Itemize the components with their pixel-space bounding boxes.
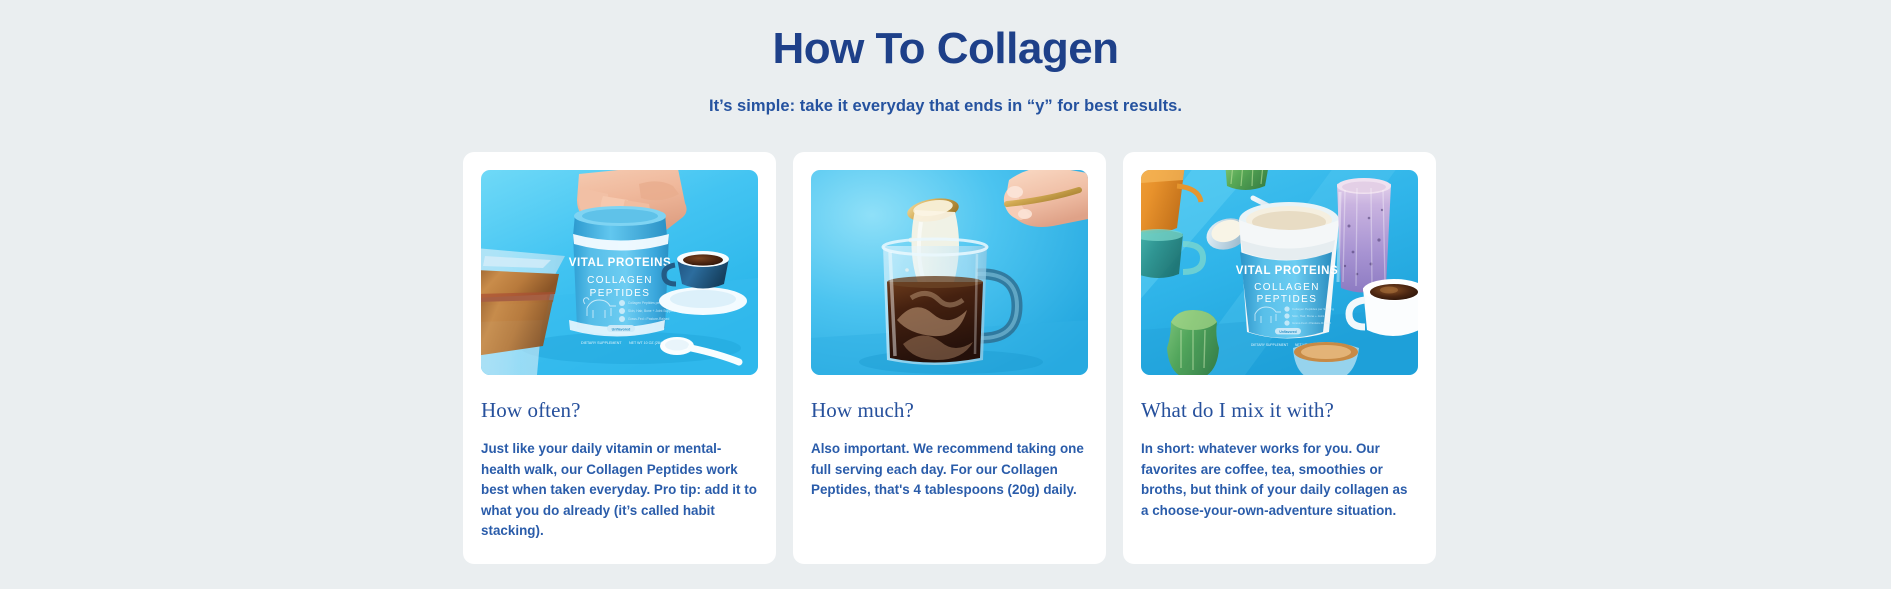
svg-text:Unflavored: Unflavored	[612, 327, 631, 331]
page-subtitle: It’s simple: take it everyday that ends …	[0, 97, 1891, 116]
how-to-card-how-much[interactable]: How much? Also important. We recommend t…	[793, 152, 1106, 564]
photo-hand-collagen-coffee: VITAL PROTEINS COLLAGEN PEPTIDES Collage…	[481, 170, 758, 375]
photo-spoon-pour-coffee-mug	[811, 170, 1088, 375]
svg-text:Unflavored: Unflavored	[1279, 330, 1296, 334]
svg-text:PEPTIDES: PEPTIDES	[1257, 294, 1318, 305]
svg-text:COLLAGEN: COLLAGEN	[1254, 282, 1320, 293]
svg-text:Collagen Peptides per Serving: Collagen Peptides per Serving	[1292, 307, 1334, 311]
how-to-card-what-do-i-mix-it-with[interactable]: VITAL PROTEINS COLLAGEN PEPTIDES Collage…	[1123, 152, 1436, 564]
section-header: How To Collagen It’s simple: take it eve…	[0, 0, 1891, 116]
photo-collagen-tub-smoothie-spread: VITAL PROTEINS COLLAGEN PEPTIDES Collage…	[1141, 170, 1418, 375]
svg-text:NET WT 10 OZ (284g): NET WT 10 OZ (284g)	[629, 341, 665, 345]
svg-text:COLLAGEN: COLLAGEN	[587, 275, 653, 286]
card-heading: What do I mix it with?	[1141, 398, 1418, 423]
how-to-cards-row: VITAL PROTEINS COLLAGEN PEPTIDES Collage…	[463, 152, 1435, 564]
svg-text:VITAL PROTEINS: VITAL PROTEINS	[1236, 265, 1339, 277]
card-image-pouring-collagen-into-coffee	[811, 170, 1088, 375]
svg-text:PEPTIDES: PEPTIDES	[590, 288, 651, 299]
card-body-text: Just like your daily vitamin or mental-h…	[481, 439, 758, 564]
svg-text:Grass-Fed • Pasture-Raised: Grass-Fed • Pasture-Raised	[1292, 321, 1331, 325]
card-body-text: Also important. We recommend taking one …	[811, 439, 1088, 523]
svg-text:Skin, Hair, Bone + Joint Suppo: Skin, Hair, Bone + Joint Support	[628, 309, 675, 313]
card-body-text: In short: whatever works for you. Our fa…	[1141, 439, 1418, 543]
card-image-hand-placing-collagen-tub: VITAL PROTEINS COLLAGEN PEPTIDES Collage…	[481, 170, 758, 375]
svg-text:DIETARY SUPPLEMENT: DIETARY SUPPLEMENT	[1251, 343, 1288, 347]
card-heading: How much?	[811, 398, 1088, 423]
svg-text:DIETARY SUPPLEMENT: DIETARY SUPPLEMENT	[581, 341, 622, 345]
page-title: How To Collagen	[0, 24, 1891, 75]
svg-text:VITAL PROTEINS: VITAL PROTEINS	[569, 257, 672, 269]
card-image-open-tub-with-smoothie-and-coffee: VITAL PROTEINS COLLAGEN PEPTIDES Collage…	[1141, 170, 1418, 375]
svg-text:Skin, Hair, Bone + Joint: Skin, Hair, Bone + Joint	[1292, 314, 1324, 318]
how-to-card-how-often[interactable]: VITAL PROTEINS COLLAGEN PEPTIDES Collage…	[463, 152, 776, 564]
card-heading: How often?	[481, 398, 758, 423]
svg-text:Grass-Fed • Pasture-Raised: Grass-Fed • Pasture-Raised	[628, 317, 669, 321]
how-to-collagen-section: How To Collagen It’s simple: take it eve…	[0, 0, 1891, 589]
